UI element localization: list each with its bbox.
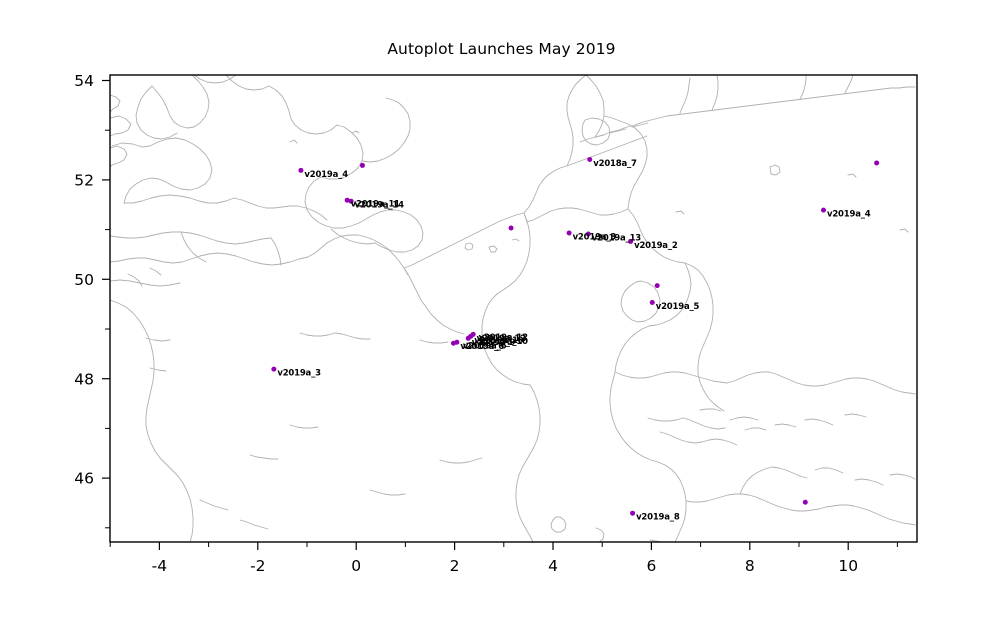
data-point-marker[interactable] xyxy=(466,336,471,341)
data-point-marker[interactable] xyxy=(655,283,660,288)
data-point-marker[interactable] xyxy=(587,157,592,162)
data-point-label: v2019a_3 xyxy=(277,369,321,379)
y-tick-label: 50 xyxy=(74,271,94,289)
x-axis-minor-ticks xyxy=(110,542,897,547)
x-tick-label: 2 xyxy=(450,557,460,575)
x-tick-label: 6 xyxy=(646,557,656,575)
figure-canvas: Autoplot Launches May 2019 xyxy=(0,0,1003,633)
y-axis-ticks xyxy=(102,81,110,479)
y-axis-tick-labels: 46 48 50 52 54 xyxy=(74,72,94,488)
data-point-label: v2019a_4 xyxy=(827,210,871,220)
x-tick-label: 0 xyxy=(351,557,361,575)
data-point-label: v2019a_2 xyxy=(634,241,678,251)
y-axis-minor-ticks xyxy=(105,130,110,528)
data-point-label: v2019a_14 xyxy=(355,201,404,211)
x-tick-label: 10 xyxy=(838,557,858,575)
x-tick-label: 4 xyxy=(548,557,558,575)
data-point-marker[interactable] xyxy=(360,163,365,168)
data-point-marker[interactable] xyxy=(650,300,655,305)
plot-background xyxy=(110,75,917,542)
data-point-marker[interactable] xyxy=(451,341,456,346)
data-point-label: v2019a_8 xyxy=(636,513,680,523)
data-point-label: v2019a_5 xyxy=(656,302,700,312)
data-point-marker[interactable] xyxy=(509,226,514,231)
y-tick-label: 48 xyxy=(74,370,94,388)
y-tick-label: 54 xyxy=(74,72,94,90)
data-point-label: v2019a_4 xyxy=(304,170,348,180)
x-tick-label: 8 xyxy=(745,557,755,575)
data-point-label: v2018a_7 xyxy=(593,159,637,169)
x-tick-label: -4 xyxy=(152,557,167,575)
data-point-marker[interactable] xyxy=(803,500,808,505)
data-point-marker[interactable] xyxy=(630,511,635,516)
y-tick-label: 52 xyxy=(74,172,94,190)
x-axis-tick-labels: -4 -2 0 2 4 6 8 10 xyxy=(152,557,858,575)
data-point-marker[interactable] xyxy=(567,230,572,235)
x-tick-label: -2 xyxy=(250,557,265,575)
scatter-plot: -4 -2 0 2 4 6 8 10 46 48 xyxy=(0,0,1003,633)
data-point-marker[interactable] xyxy=(298,168,303,173)
data-point-marker[interactable] xyxy=(874,160,879,165)
data-point-marker[interactable] xyxy=(271,367,276,372)
data-point-marker[interactable] xyxy=(821,208,826,213)
data-point-label: v2019a_6 xyxy=(463,341,507,351)
y-tick-label: 46 xyxy=(74,470,94,488)
